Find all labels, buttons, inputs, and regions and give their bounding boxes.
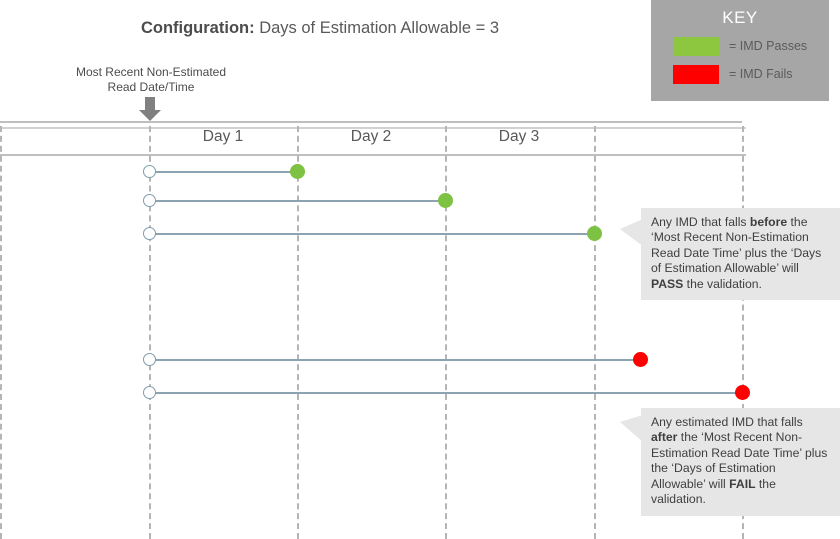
gridline-2 <box>297 126 299 539</box>
down-arrow-icon <box>139 97 161 121</box>
key-item-fail-label: = IMD Fails <box>729 67 793 81</box>
anchor-annotation-line1: Most Recent Non-Estimated <box>56 65 246 80</box>
fail-callout: Any estimated IMD that falls after the ‘… <box>641 408 840 516</box>
key-legend: KEY = IMD Passes = IMD Fails <box>651 0 829 101</box>
gridline-1 <box>149 126 151 539</box>
pass-callout: Any IMD that falls before the ‘Most Rece… <box>641 208 840 300</box>
key-item-fail: = IMD Fails <box>673 64 793 84</box>
key-heading: KEY <box>651 8 829 28</box>
imd-row-pass-day2-endpoint <box>438 193 453 208</box>
config-title-value: Days of Estimation Allowable = 3 <box>259 19 499 37</box>
imd-row-pass-day3-start-marker <box>143 227 156 240</box>
anchor-annotation-line2: Read Date/Time <box>56 80 246 95</box>
green-square-icon <box>673 37 719 56</box>
red-square-icon <box>673 65 719 84</box>
config-title-label: Configuration: <box>141 19 255 37</box>
gridline-3 <box>445 126 447 539</box>
day-label-3: Day 3 <box>445 128 593 146</box>
gridline-4 <box>594 126 596 539</box>
gridline-0 <box>0 126 2 539</box>
imd-row-pass-day1-start-marker <box>143 165 156 178</box>
imd-row-fail-early-start-marker <box>143 353 156 366</box>
imd-row-fail-late-start-marker <box>143 386 156 399</box>
timeline-top-rule <box>0 121 742 123</box>
day-label-1: Day 1 <box>149 128 297 146</box>
imd-row-fail-early-line <box>149 359 640 361</box>
imd-row-pass-day1-line <box>149 171 297 173</box>
key-item-pass: = IMD Passes <box>673 36 807 56</box>
imd-row-pass-day2-start-marker <box>143 194 156 207</box>
imd-row-fail-late-endpoint <box>735 385 750 400</box>
anchor-annotation: Most Recent Non-Estimated Read Date/Time <box>56 65 246 95</box>
page-title: Configuration: Days of Estimation Allowa… <box>0 19 640 38</box>
key-item-pass-label: = IMD Passes <box>729 39 807 53</box>
imd-row-fail-early-endpoint <box>633 352 648 367</box>
imd-row-pass-day1-endpoint <box>290 164 305 179</box>
imd-row-pass-day3-line <box>149 233 594 235</box>
imd-row-pass-day2-line <box>149 200 445 202</box>
diagram-canvas: Configuration: Days of Estimation Allowa… <box>0 0 840 539</box>
imd-row-pass-day3-endpoint <box>587 226 602 241</box>
day-label-2: Day 2 <box>297 128 445 146</box>
imd-row-fail-late-line <box>149 392 742 394</box>
